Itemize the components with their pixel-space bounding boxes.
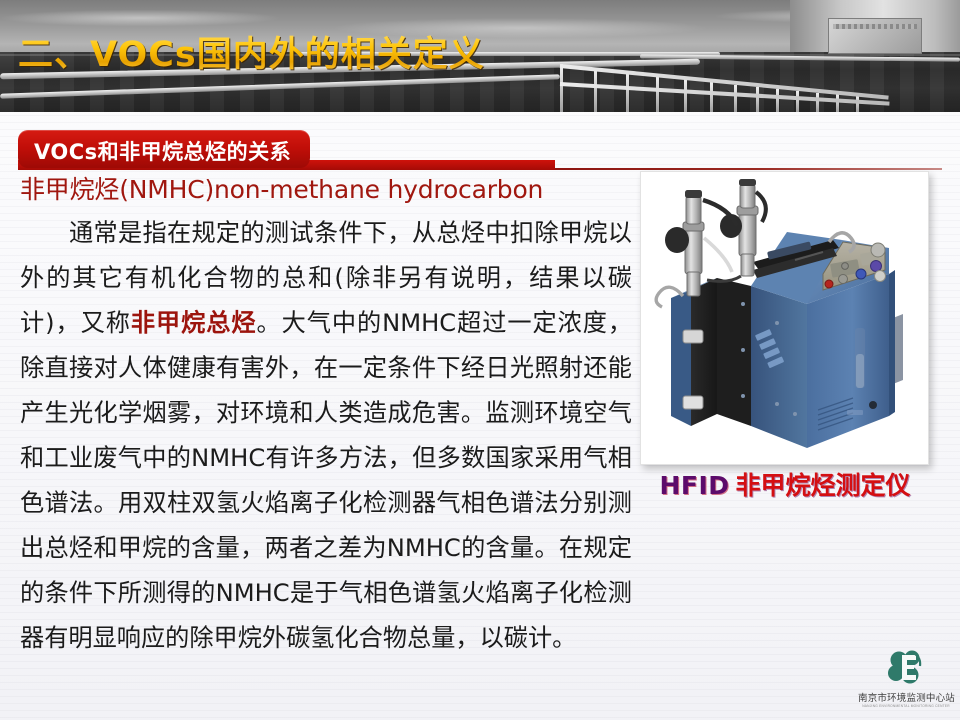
organization-logo: 南京市环境监测中心站 NANJING ENVIRONMENTAL MONITOR… <box>858 648 954 708</box>
photo-caption: HFID非甲烷烃测定仪 <box>640 466 930 502</box>
header-equipment-box <box>828 18 922 54</box>
definition-heading: 非甲烷烃(NMHC)non-methane hydrocarbon <box>20 176 632 205</box>
header-banner: 二、VOCs国内外的相关定义 <box>0 0 960 112</box>
clover-e-logo-icon <box>885 648 927 688</box>
hfid-analyzer-illustration <box>647 178 922 458</box>
section-title-pill: VOCs和非甲烷总烃的关系 <box>18 130 310 168</box>
photo-caption-en: HFID <box>659 471 729 500</box>
logo-svg <box>885 648 927 688</box>
instrument-photo <box>647 178 922 458</box>
paragraph-emphasis: 非甲烷总烃 <box>131 309 257 337</box>
section-banner-row: VOCs和非甲烷总烃的关系 <box>0 130 960 170</box>
photo-caption-cn: 非甲烷烃测定仪 <box>736 471 911 500</box>
slide-canvas: 二、VOCs国内外的相关定义 VOCs和非甲烷总烃的关系 非甲烷烃(NMHC)n… <box>0 0 960 720</box>
instrument-photo-frame <box>640 171 929 465</box>
header-walkway-railing <box>560 50 890 112</box>
section-title-label: VOCs和非甲烷总烃的关系 <box>34 136 291 166</box>
organization-name: 南京市环境监测中心站 <box>858 690 954 704</box>
organization-name-en: NANJING ENVIRONMENTAL MONITORING CENTER <box>860 704 951 708</box>
page-title: 二、VOCs国内外的相关定义 <box>18 26 485 77</box>
paragraph-part-3: 。大气中的NMHC超过一定浓度，除直接对人体健康有害外，在一定条件下经日光照射还… <box>20 309 632 652</box>
definition-paragraph: 通常是指在规定的测试条件下，从总烃中扣除甲烷以外的其它有机化合物的总和(除非另有… <box>20 211 632 661</box>
body-text-block: 非甲烷烃(NMHC)non-methane hydrocarbon 通常是指在规… <box>20 176 632 661</box>
